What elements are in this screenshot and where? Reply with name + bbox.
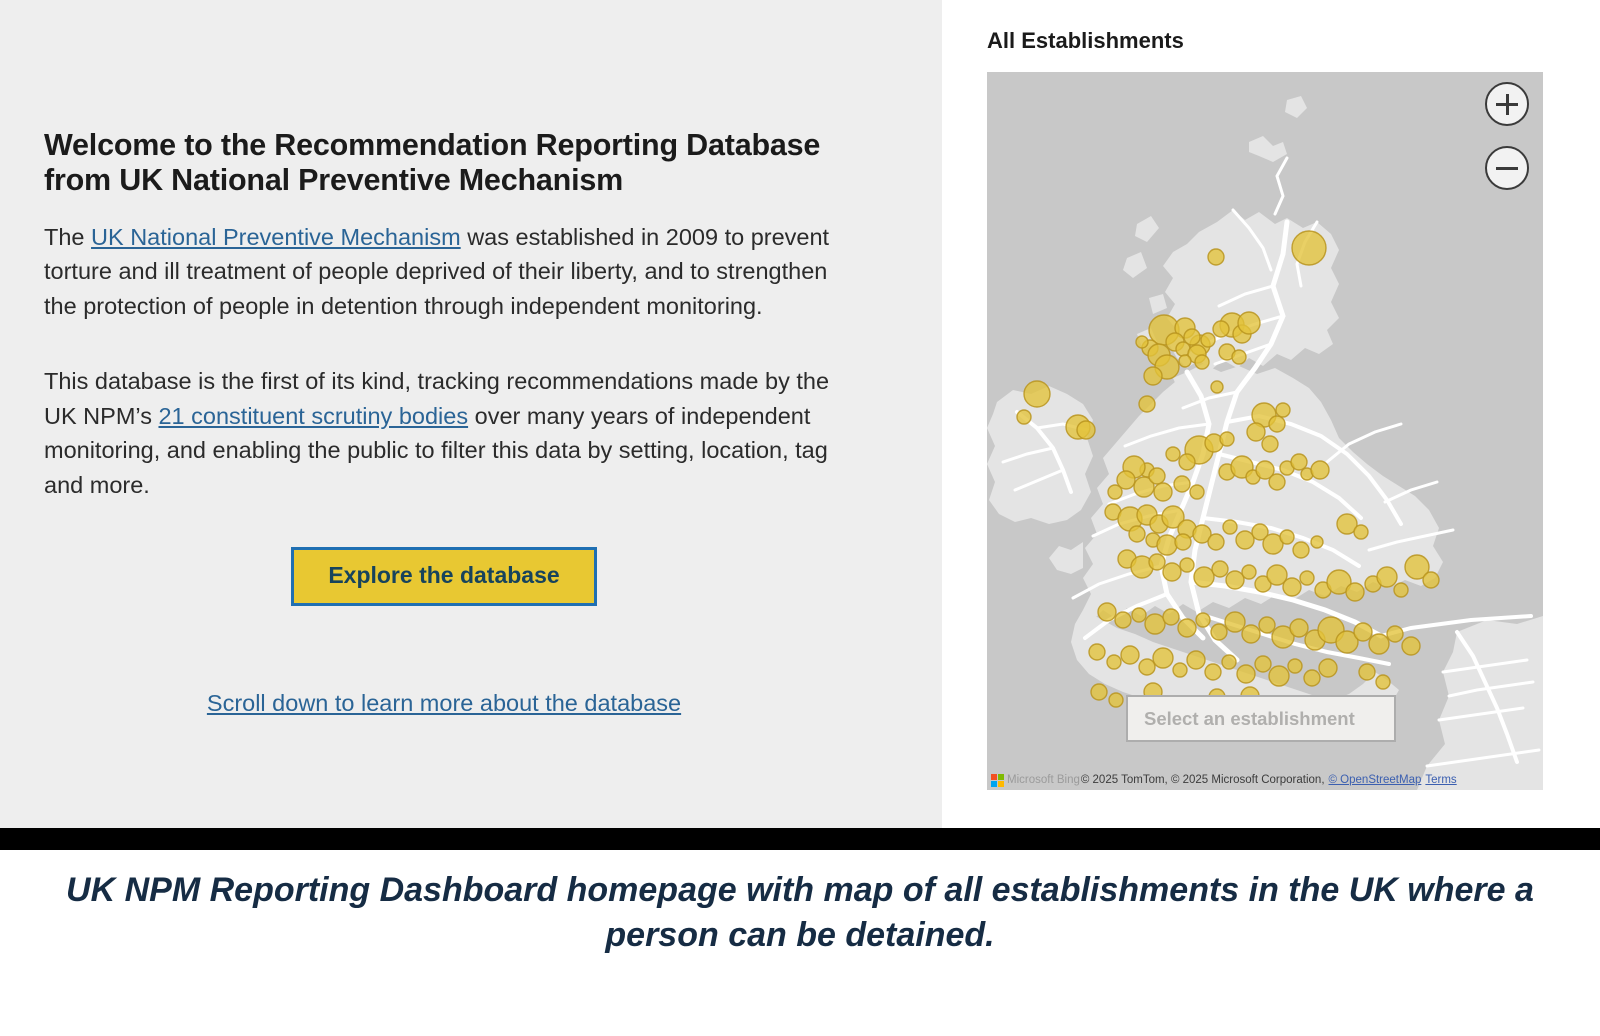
intro-text-before: The (44, 224, 91, 250)
establishment-bubble[interactable] (1149, 554, 1165, 570)
establishment-bubble[interactable] (1262, 436, 1278, 452)
establishment-bubble[interactable] (1149, 468, 1165, 484)
bing-brand-label: Microsoft Bing (1007, 774, 1080, 786)
establishment-bubble[interactable] (1187, 651, 1205, 669)
establishment-bubble[interactable] (1226, 571, 1244, 589)
establishment-bubble[interactable] (1145, 614, 1165, 634)
caption-text: UK NPM Reporting Dashboard homepage with… (0, 868, 1600, 958)
database-paragraph: This database is the first of its kind, … (44, 364, 844, 503)
map-panel: All Establishments (942, 0, 1600, 828)
establishment-bubble[interactable] (1121, 646, 1139, 664)
establishment-bubble[interactable] (1108, 485, 1122, 499)
establishment-bubble[interactable] (1255, 656, 1271, 672)
cta-container: Explore the database (44, 547, 844, 606)
establishment-bubble[interactable] (1115, 612, 1131, 628)
establishment-bubble[interactable] (1280, 530, 1294, 544)
establishment-bubble[interactable] (1376, 675, 1390, 689)
establishment-bubble[interactable] (1242, 565, 1256, 579)
establishment-bubble[interactable] (1205, 664, 1221, 680)
terms-link[interactable]: Terms (1425, 774, 1456, 786)
plus-vertical-bar (1506, 94, 1509, 115)
npm-link[interactable]: UK National Preventive Mechanism (91, 224, 461, 250)
map-copyright-text: © 2025 TomTom, © 2025 Microsoft Corporat… (1081, 774, 1325, 786)
establishment-bubble[interactable] (1129, 526, 1145, 542)
establishment-bubble[interactable] (1238, 312, 1260, 334)
establishment-bubble[interactable] (1163, 563, 1181, 581)
establishment-bubble[interactable] (1107, 655, 1121, 669)
welcome-panel-content: Welcome to the Recommendation Reporting … (44, 128, 844, 717)
establishment-bubble[interactable] (1291, 454, 1307, 470)
establishment-bubble[interactable] (1369, 634, 1389, 654)
establishment-bubble[interactable] (1153, 648, 1173, 668)
establishment-bubble[interactable] (1190, 485, 1204, 499)
establishment-bubble[interactable] (1259, 617, 1275, 633)
establishment-bubble[interactable] (1300, 571, 1314, 585)
explore-database-button[interactable]: Explore the database (291, 547, 596, 606)
establishment-bubble[interactable] (1319, 659, 1337, 677)
establishment-bubble[interactable] (1394, 583, 1408, 597)
establishment-bubble[interactable] (1236, 531, 1254, 549)
establishment-bubble[interactable] (1269, 416, 1285, 432)
establishment-bubble[interactable] (1077, 421, 1095, 439)
figure-caption: UK NPM Reporting Dashboard homepage with… (0, 850, 1600, 1036)
establishment-bubble[interactable] (1196, 613, 1210, 627)
establishment-bubble[interactable] (1220, 432, 1234, 446)
establishment-bubble[interactable] (1293, 542, 1309, 558)
establishment-bubble[interactable] (1024, 381, 1050, 407)
establishment-bubble[interactable] (1139, 659, 1155, 675)
establishment-bubble[interactable] (1175, 534, 1191, 550)
establishment-bubble[interactable] (1208, 249, 1224, 265)
zoom-out-icon[interactable] (1485, 146, 1529, 190)
map-canvas (987, 72, 1543, 790)
zoom-in-icon[interactable] (1485, 82, 1529, 126)
microsoft-logo-icon (991, 774, 1004, 787)
establishment-bubble[interactable] (1222, 655, 1236, 669)
establishment-bubble[interactable] (1132, 608, 1146, 622)
figure-divider-bar (0, 828, 1600, 850)
establishment-bubble[interactable] (1180, 558, 1194, 572)
establishment-bubble[interactable] (1201, 333, 1215, 347)
establishment-bubble[interactable] (1089, 644, 1105, 660)
establishment-bubble[interactable] (1311, 461, 1329, 479)
openstreetmap-link[interactable]: © OpenStreetMap (1329, 774, 1422, 786)
establishment-bubble[interactable] (1276, 403, 1290, 417)
establishment-bubble[interactable] (1136, 336, 1148, 348)
establishment-bubble[interactable] (1179, 454, 1195, 470)
establishment-bubble[interactable] (1377, 567, 1397, 587)
establishment-bubble[interactable] (1174, 476, 1190, 492)
scrutiny-bodies-link[interactable]: 21 constituent scrutiny bodies (158, 403, 468, 429)
establishments-map[interactable]: Select an establishment Microsoft Bing ©… (987, 72, 1543, 790)
establishment-bubble[interactable] (1195, 355, 1209, 369)
establishment-bubble[interactable] (1166, 447, 1180, 461)
establishment-bubble[interactable] (1225, 612, 1245, 632)
welcome-panel: Welcome to the Recommendation Reporting … (0, 0, 942, 828)
establishment-bubble[interactable] (1157, 535, 1177, 555)
establishment-bubble[interactable] (1223, 520, 1237, 534)
establishment-bubble[interactable] (1283, 578, 1301, 596)
minus-horizontal-bar (1496, 167, 1518, 170)
establishment-bubble[interactable] (1387, 626, 1403, 642)
establishment-bubble[interactable] (1098, 603, 1116, 621)
establishment-bubble[interactable] (1109, 693, 1123, 707)
establishment-bubble[interactable] (1154, 483, 1172, 501)
establishment-bubble[interactable] (1211, 381, 1223, 393)
establishment-bubble[interactable] (1017, 410, 1031, 424)
select-establishment-input[interactable]: Select an establishment (1126, 695, 1396, 742)
establishment-bubble[interactable] (1269, 474, 1285, 490)
establishment-bubble[interactable] (1311, 536, 1323, 548)
establishment-bubble[interactable] (1211, 624, 1227, 640)
establishment-bubble[interactable] (1208, 534, 1224, 550)
dashboard-screenshot: Welcome to the Recommendation Reporting … (0, 0, 1600, 828)
establishment-bubble[interactable] (1346, 583, 1364, 601)
establishment-bubble[interactable] (1288, 659, 1302, 673)
intro-paragraph: The UK National Preventive Mechanism was… (44, 220, 844, 324)
page-title: Welcome to the Recommendation Reporting … (44, 128, 834, 198)
establishment-bubble[interactable] (1247, 423, 1265, 441)
scroll-down-link[interactable]: Scroll down to learn more about the data… (207, 690, 681, 717)
establishment-bubble[interactable] (1423, 572, 1439, 588)
establishment-bubble[interactable] (1091, 684, 1107, 700)
establishment-bubble[interactable] (1139, 396, 1155, 412)
establishment-bubble[interactable] (1402, 637, 1420, 655)
establishment-bubble[interactable] (1212, 561, 1228, 577)
establishment-bubble[interactable] (1179, 355, 1191, 367)
establishment-bubble[interactable] (1173, 663, 1187, 677)
establishment-bubble[interactable] (1232, 350, 1246, 364)
establishment-bubble[interactable] (1354, 525, 1368, 539)
map-heading: All Establishments (987, 28, 1184, 54)
establishment-bubble[interactable] (1242, 625, 1260, 643)
establishment-bubble[interactable] (1194, 567, 1214, 587)
establishment-bubble[interactable] (1237, 665, 1255, 683)
establishment-bubble[interactable] (1269, 666, 1289, 686)
select-establishment-placeholder: Select an establishment (1144, 708, 1355, 730)
establishment-bubble[interactable] (1354, 623, 1372, 641)
establishment-bubble[interactable] (1213, 321, 1229, 337)
establishment-bubble[interactable] (1304, 670, 1320, 686)
establishment-bubble[interactable] (1359, 664, 1375, 680)
establishment-bubble[interactable] (1292, 231, 1326, 265)
establishment-bubble[interactable] (1178, 619, 1196, 637)
map-attribution: Microsoft Bing © 2025 TomTom, © 2025 Mic… (987, 771, 1543, 789)
establishment-bubble[interactable] (1163, 609, 1179, 625)
establishment-bubble[interactable] (1144, 367, 1162, 385)
scroll-link-container: Scroll down to learn more about the data… (44, 690, 844, 717)
establishment-bubble[interactable] (1290, 619, 1308, 637)
